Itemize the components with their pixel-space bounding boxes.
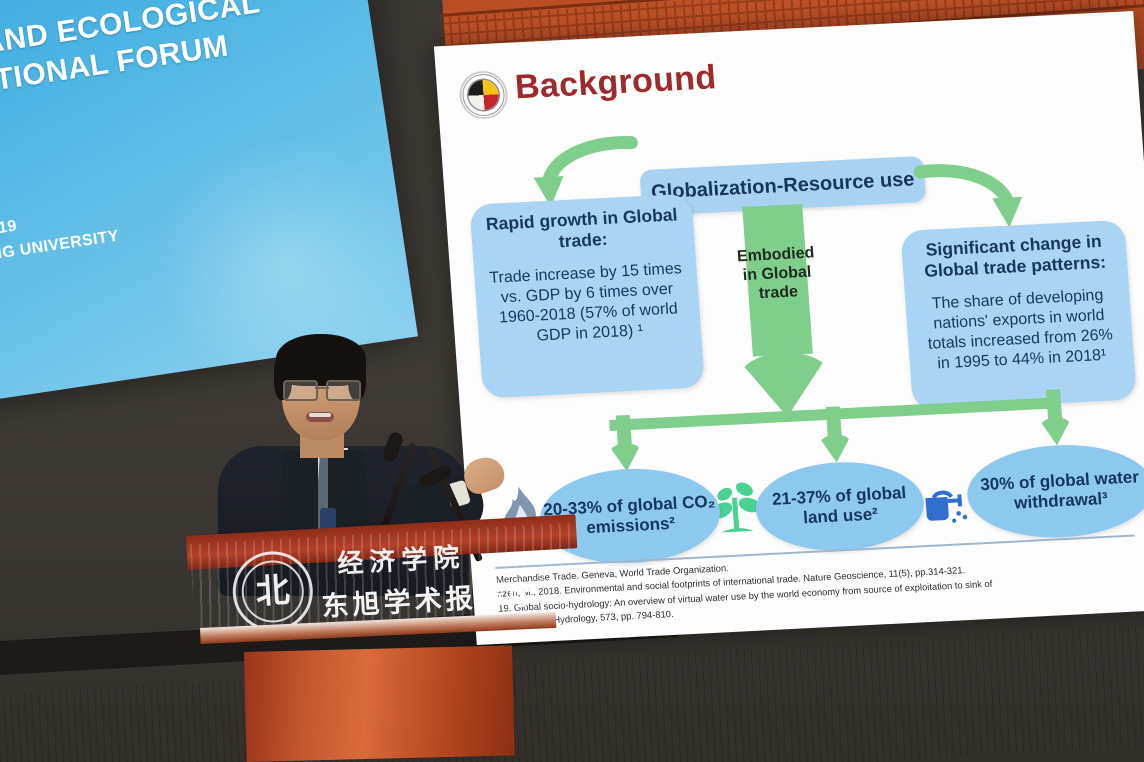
arrow-to-co2-icon: [606, 414, 644, 472]
peking-university-seal: 北: [231, 549, 315, 633]
trade-patterns-body: The share of developing nations' exports…: [917, 285, 1123, 376]
arrow-to-water-icon: [1036, 389, 1074, 447]
arrow-to-land-icon: [816, 406, 854, 464]
left-screen-title: ONOMICS AND ECOLOGICAL L INTERNATIONAL F…: [0, 0, 353, 124]
rapid-growth-body: Trade increase by 15 times vs. GDP by 6 …: [486, 259, 690, 349]
water-outcome-label: 30% of global water withdrawal³: [966, 466, 1144, 516]
podium-column: [244, 645, 515, 762]
trade-patterns-box: Significant change in Global trade patte…: [900, 220, 1137, 411]
rapid-growth-box: Rapid growth in Global trade: Trade incr…: [469, 194, 705, 399]
trade-patterns-heading: Significant change in Global trade patte…: [913, 230, 1116, 283]
university-of-maryland-seal: [458, 70, 509, 120]
slide-title: Background: [514, 58, 718, 107]
rapid-growth-heading: Rapid growth in Global trade:: [482, 204, 683, 257]
embodied-trade-arrow: Embodied in Global trade: [724, 203, 835, 419]
hair: [276, 334, 366, 386]
land-outcome-label: 21-37% of global land use²: [754, 482, 925, 531]
podium-school-name: 经济学院: [336, 537, 466, 581]
land-outcome-ellipse: 21-37% of global land use²: [753, 458, 927, 554]
presentation-photo: ...al Civilization International Forum O…: [0, 0, 1144, 762]
embodied-trade-label: Embodied in Global trade: [733, 243, 821, 305]
water-outcome-ellipse: 30% of global water withdrawal³: [964, 441, 1144, 542]
eyeglasses-icon: [282, 380, 362, 398]
globalization-resource-label: Globalization-Resource use: [650, 168, 915, 204]
